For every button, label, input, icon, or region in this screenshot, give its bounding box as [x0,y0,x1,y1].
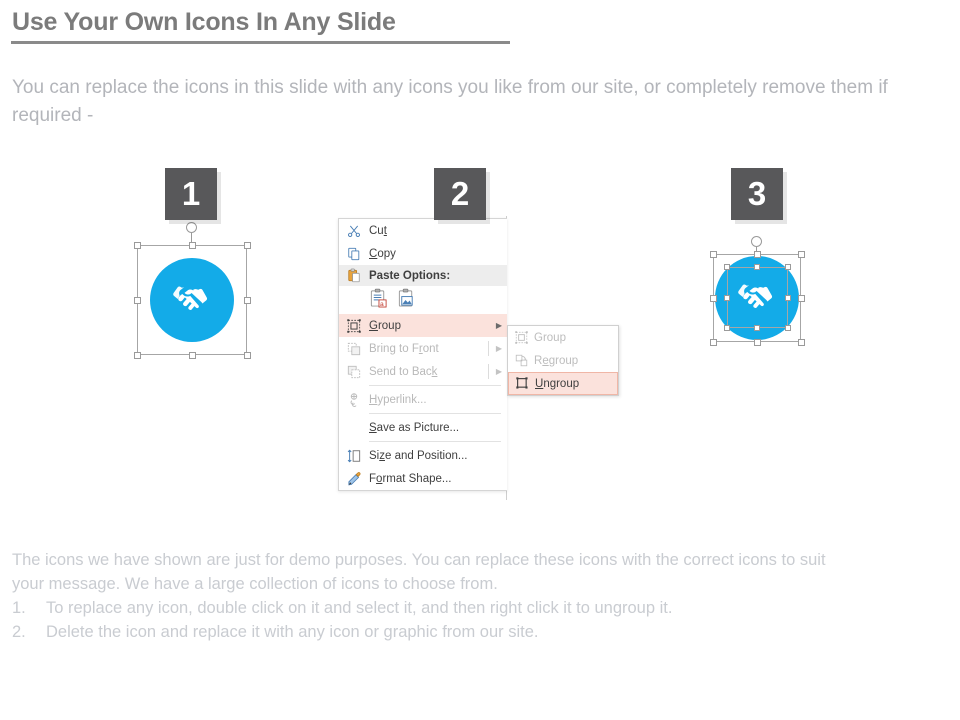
submenu-arrow-bring-to-front-icon: ▶ [491,344,507,353]
resize-handle-w-3[interactable] [710,295,717,302]
resize-handle-n-3[interactable] [754,251,761,258]
resize-handle-w-1[interactable] [134,297,141,304]
hyperlink-icon [339,388,369,411]
page-subtitle: You can replace the icons in this slide … [12,74,956,130]
inner-handle-sw-3[interactable] [724,325,730,331]
note-line-2: your message. We have a large collection… [12,572,952,596]
resize-handle-nw-1[interactable] [134,242,141,249]
menu-item-bring-to-front[interactable]: Bring to Front ▶ [339,337,507,360]
inner-handle-n-3[interactable] [754,264,760,270]
inner-handle-e-3[interactable] [785,295,791,301]
selection-frame-3-inner [727,267,788,328]
menu-item-copy-label: Copy [369,248,507,260]
resize-handle-se-3[interactable] [798,339,805,346]
list-item: 2. Delete the icon and replace it with a… [12,620,952,644]
resize-handle-ne-3[interactable] [798,251,805,258]
paste-keep-formatting-icon[interactable]: a [369,288,388,313]
send-to-back-icon [339,360,369,383]
submenu-arrow-send-to-back-icon: ▶ [491,367,507,376]
no-icon [339,416,369,439]
submenu-item-group[interactable]: Group [508,326,618,349]
slide-canvas: Use Your Own Icons In Any Slide You can … [0,0,960,720]
note-numbered-list: 1. To replace any icon, double click on … [12,596,952,644]
rotation-handle-1[interactable] [186,222,197,233]
paste-picture-icon[interactable] [397,288,416,313]
menu-item-copy[interactable]: Copy [339,242,507,265]
resize-handle-s-1[interactable] [189,352,196,359]
footer-notes: The icons we have shown are just for dem… [12,548,952,644]
step-badge-2: 2 [434,168,486,220]
resize-handle-se-1[interactable] [244,352,251,359]
svg-text:a: a [380,301,384,308]
menu-item-group-label: Group [369,320,491,332]
rotation-handle-3[interactable] [751,236,762,247]
menu-item-size-and-position-label: Size and Position... [369,450,507,462]
size-position-icon [339,444,369,467]
resize-handle-e-3[interactable] [798,295,805,302]
copy-icon [339,242,369,265]
menu-item-cut[interactable]: Cut [339,219,507,242]
inner-handle-ne-3[interactable] [785,264,791,270]
menu-item-size-and-position[interactable]: Size and Position... [339,444,507,467]
list-item: 1. To replace any icon, double click on … [12,596,952,620]
resize-handle-e-1[interactable] [244,297,251,304]
title-underline [11,41,510,44]
submenu-item-ungroup-label: Ungroup [535,378,579,390]
menu-divider-vertical [488,364,489,379]
inner-handle-s-3[interactable] [754,325,760,331]
menu-item-format-shape-label: Format Shape... [369,473,507,485]
paste-options-label: Paste Options: [369,270,450,282]
menu-item-cut-label: Cut [369,225,507,237]
menu-item-hyperlink-label: Hyperlink... [369,394,507,406]
menu-separator [369,413,501,414]
menu-item-send-to-back-label: Send to Back [369,366,491,378]
step-badge-1: 1 [165,168,217,220]
menu-item-save-as-picture[interactable]: Save as Picture... [339,416,507,439]
paste-options-row[interactable]: a [339,286,507,314]
inner-handle-w-3[interactable] [724,295,730,301]
menu-item-hyperlink[interactable]: Hyperlink... [339,388,507,411]
menu-item-save-as-picture-label: Save as Picture... [369,422,507,434]
regroup-icon [508,349,534,372]
resize-handle-n-1[interactable] [189,242,196,249]
list-item-text: To replace any icon, double click on it … [46,596,672,620]
group-submenu[interactable]: Group Regroup Ungroup [507,325,619,396]
format-shape-icon [339,467,369,490]
context-menu[interactable]: Cut Copy Paste Options: [338,218,507,491]
menu-separator [369,385,501,386]
step-badge-3: 3 [731,168,783,220]
inner-handle-se-3[interactable] [785,325,791,331]
resize-handle-ne-1[interactable] [244,242,251,249]
handshake-icon-1[interactable] [150,258,234,342]
page-title: Use Your Own Icons In Any Slide [12,8,396,37]
submenu-arrow-group-icon: ▶ [491,321,507,330]
menu-item-group[interactable]: Group ▶ [339,314,507,337]
list-item-text: Delete the icon and replace it with any … [46,620,539,644]
scissors-icon [339,219,369,242]
menu-item-bring-to-front-label: Bring to Front [369,343,491,355]
submenu-item-ungroup[interactable]: Ungroup [508,372,618,395]
menu-divider-vertical [488,341,489,356]
menu-item-format-shape[interactable]: Format Shape... [339,467,507,490]
list-item-number: 1. [12,596,46,620]
group-icon [508,326,534,349]
clipboard-icon [339,265,369,286]
submenu-item-regroup-label: Regroup [534,355,578,367]
resize-handle-sw-3[interactable] [710,339,717,346]
inner-handle-nw-3[interactable] [724,264,730,270]
resize-handle-s-3[interactable] [754,339,761,346]
submenu-item-group-label: Group [534,332,566,344]
bring-to-front-icon [339,337,369,360]
ungroup-icon [509,372,535,395]
list-item-number: 2. [12,620,46,644]
resize-handle-nw-3[interactable] [710,251,717,258]
menu-item-send-to-back[interactable]: Send to Back ▶ [339,360,507,383]
group-icon [339,314,369,337]
resize-handle-sw-1[interactable] [134,352,141,359]
note-line-1: The icons we have shown are just for dem… [12,548,952,572]
menu-separator [369,441,501,442]
paste-options-header: Paste Options: [339,265,507,286]
submenu-item-regroup[interactable]: Regroup [508,349,618,372]
